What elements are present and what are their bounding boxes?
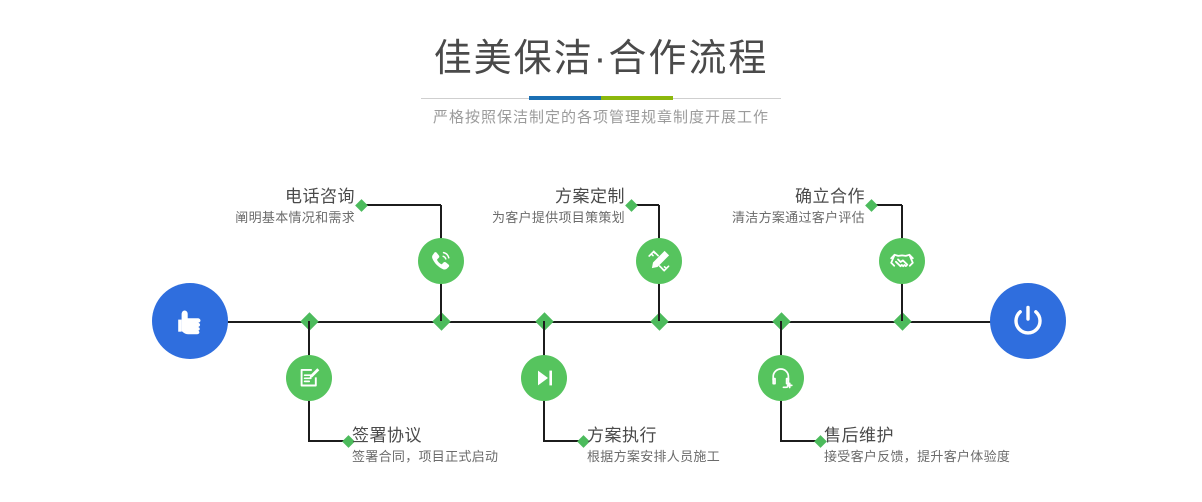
step-6-title: 售后维护 <box>824 425 1144 447</box>
handshake-icon <box>888 247 916 275</box>
pencil-ruler-icon <box>645 247 673 275</box>
play-execute-icon <box>530 364 558 392</box>
title-divider <box>421 96 781 100</box>
step-3-desc: 为客户提供项目策策划 <box>370 208 625 228</box>
step-6-label: 售后维护 接受客户反馈，提升客户体验度 <box>824 425 1144 467</box>
step-1-desc: 阐明基本情况和需求 <box>97 208 355 228</box>
step-3-label: 方案定制 为客户提供项目策策划 <box>370 186 625 228</box>
step-2-node <box>286 355 332 401</box>
divider-green-segment <box>601 96 673 100</box>
step-1-tick <box>355 199 368 212</box>
document-sign-icon <box>295 364 323 392</box>
process-flow-infographic: 佳美保洁·合作流程 严格按照保洁制定的各项管理规章制度开展工作 <box>0 0 1202 502</box>
step-6-node <box>758 355 804 401</box>
headset-support-icon <box>767 364 795 392</box>
step-5-node <box>879 238 925 284</box>
end-endpoint <box>990 283 1066 359</box>
pointing-hand-icon <box>170 301 210 341</box>
step-1-title: 电话咨询 <box>97 186 355 208</box>
divider-blue-segment <box>529 96 601 100</box>
step-4-node <box>521 355 567 401</box>
page-subtitle: 严格按照保洁制定的各项管理规章制度开展工作 <box>0 106 1202 127</box>
header: 佳美保洁·合作流程 严格按照保洁制定的各项管理规章制度开展工作 <box>0 0 1202 150</box>
step-3-title: 方案定制 <box>370 186 625 208</box>
step-6-desc: 接受客户反馈，提升客户体验度 <box>824 447 1144 467</box>
step-5-desc: 清洁方案通过客户评估 <box>610 208 865 228</box>
step-5-tick <box>865 199 878 212</box>
step-1-node <box>418 238 464 284</box>
start-endpoint <box>152 283 228 359</box>
step-1-label: 电话咨询 阐明基本情况和需求 <box>97 186 355 228</box>
page-title: 佳美保洁·合作流程 <box>0 36 1202 82</box>
step-3-node <box>636 238 682 284</box>
power-icon <box>1007 300 1049 342</box>
step-5-title: 确立合作 <box>610 186 865 208</box>
phone-call-icon <box>427 247 455 275</box>
step-5-label: 确立合作 清洁方案通过客户评估 <box>610 186 865 228</box>
